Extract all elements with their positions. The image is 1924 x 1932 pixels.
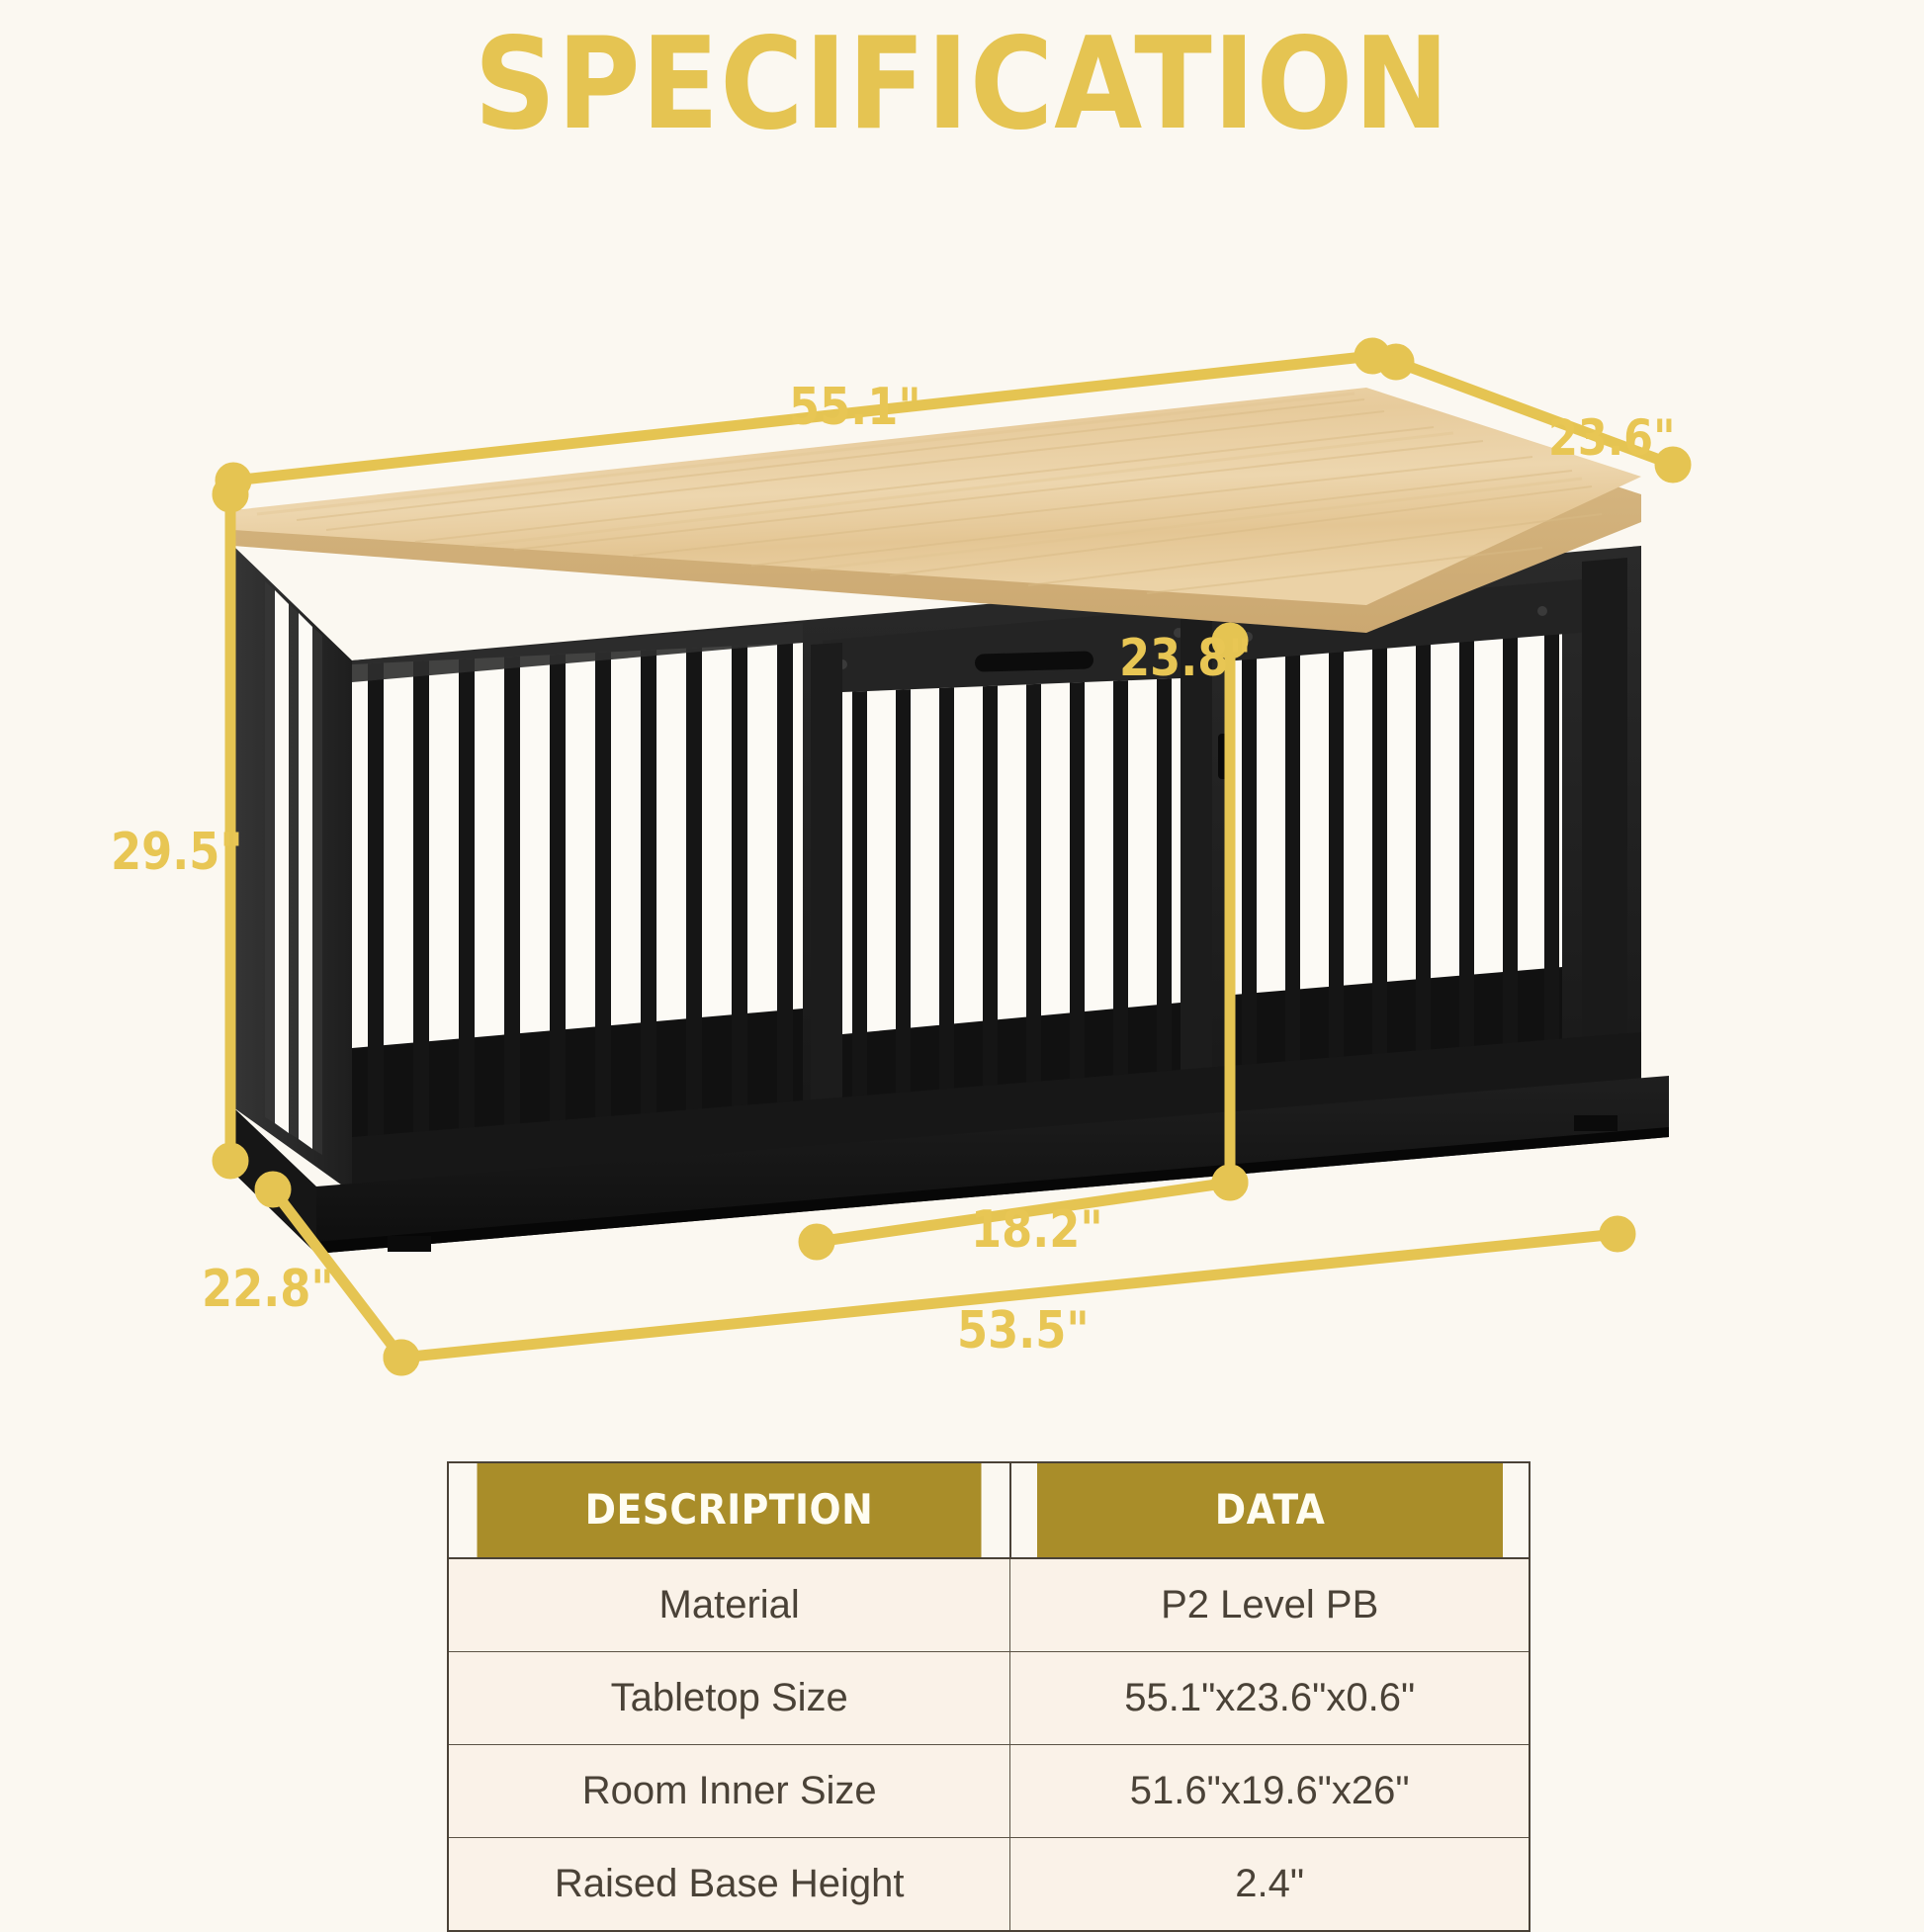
dimension-label-inner-height: 23.8" bbox=[1119, 633, 1252, 684]
dimension-label-base-width: 53.5" bbox=[957, 1305, 1090, 1357]
specification-table: DESCRIPTION DATA Material P2 Level PB Ta… bbox=[447, 1461, 1530, 1932]
dimension-label-top-width: 55.1" bbox=[789, 382, 921, 433]
row-value-material: P2 Level PB bbox=[1010, 1558, 1530, 1652]
row-value-raised-base-height: 2.4" bbox=[1010, 1838, 1530, 1932]
row-label-room-inner-size: Room Inner Size bbox=[448, 1745, 1010, 1838]
specification-page: SPECIFICATION bbox=[0, 0, 1924, 1924]
foot-left bbox=[388, 1236, 431, 1252]
rail-screw-2 bbox=[1537, 606, 1547, 616]
row-label-raised-base-height: Raised Base Height bbox=[448, 1838, 1010, 1932]
column-header-data: DATA bbox=[1036, 1462, 1504, 1558]
dimension-label-door-width: 18.2" bbox=[971, 1204, 1103, 1256]
crate-body bbox=[233, 388, 1669, 1254]
column-header-description: DESCRIPTION bbox=[476, 1462, 982, 1558]
row-value-tabletop-size: 55.1"x23.6"x0.6" bbox=[1010, 1652, 1530, 1745]
dimension-label-base-depth: 22.8" bbox=[202, 1264, 334, 1315]
door-handle bbox=[975, 651, 1093, 671]
row-label-tabletop-size: Tabletop Size bbox=[448, 1652, 1010, 1745]
product-illustration: 55.1" 23.6" 29.5" 23.8" 18.2" 53.5" 22.8… bbox=[0, 0, 1924, 1404]
row-label-material: Material bbox=[448, 1558, 1010, 1652]
table-row: Room Inner Size 51.6"x19.6"x26" bbox=[448, 1745, 1530, 1838]
dimension-label-overall-height: 29.5" bbox=[111, 827, 243, 878]
table-row: Tabletop Size 55.1"x23.6"x0.6" bbox=[448, 1652, 1530, 1745]
table-header-row: DESCRIPTION DATA bbox=[448, 1462, 1530, 1558]
table-row: Material P2 Level PB bbox=[448, 1558, 1530, 1652]
dimension-label-top-depth: 23.6" bbox=[1548, 413, 1676, 463]
left-side-bars bbox=[265, 581, 322, 1155]
table-row: Raised Base Height 2.4" bbox=[448, 1838, 1530, 1932]
row-value-room-inner-size: 51.6"x19.6"x26" bbox=[1010, 1745, 1530, 1838]
foot-right bbox=[1574, 1115, 1618, 1131]
